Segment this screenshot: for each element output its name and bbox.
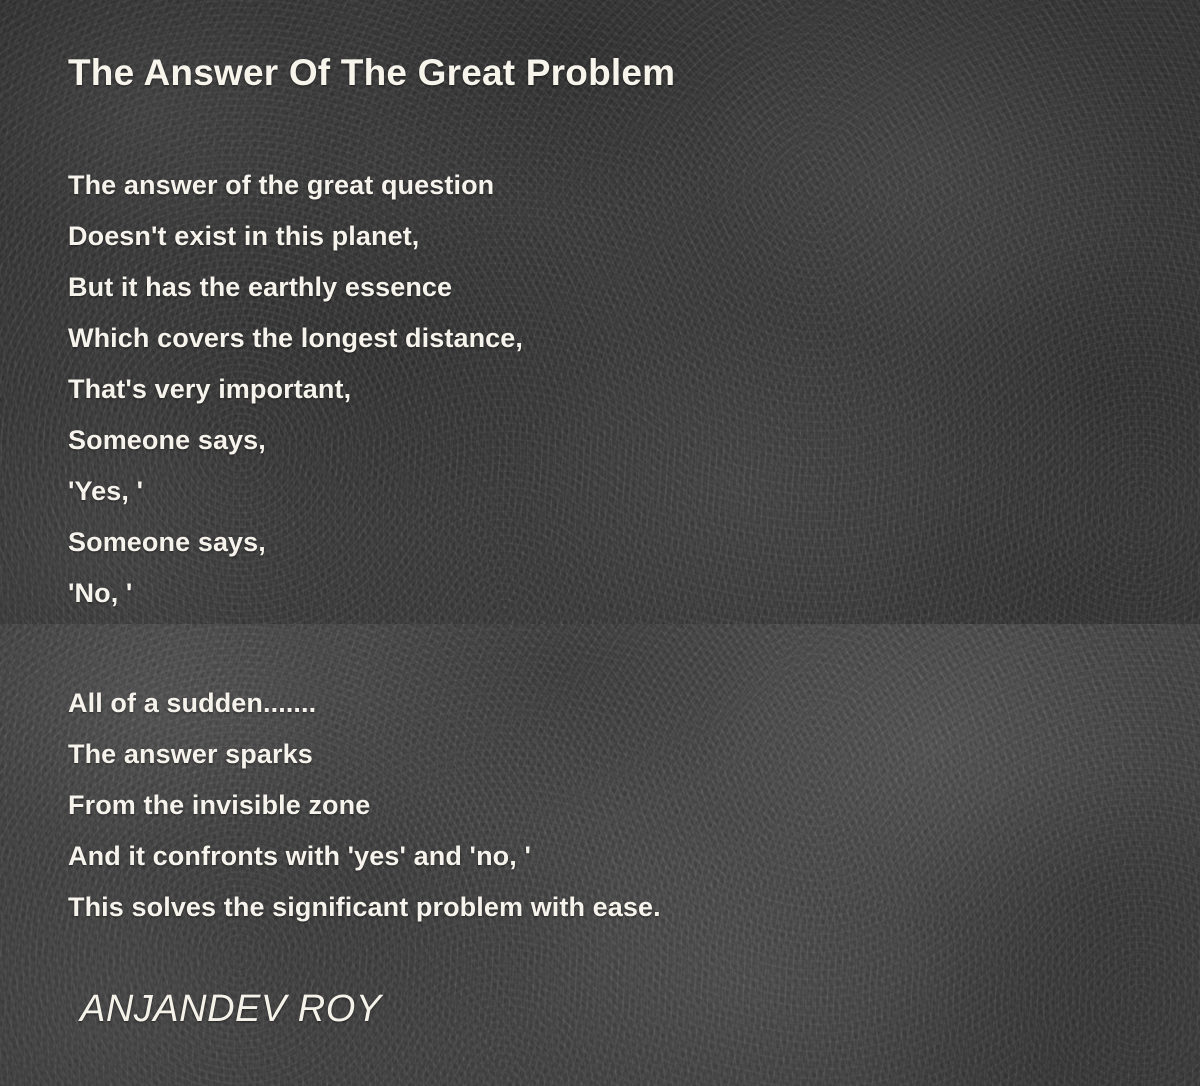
stanza-two: All of a sudden....... The answer sparks… [68,678,661,933]
poem-line: 'No, ' [68,568,523,619]
poem-title: The Answer Of The Great Problem [68,50,675,96]
poem-line: This solves the significant problem with… [68,882,661,933]
poem-line: 'Yes, ' [68,466,523,517]
poem-line: Which covers the longest distance, [68,313,523,364]
poem-author: ANJANDEV ROY [80,985,382,1033]
poem-line: From the invisible zone [68,780,661,831]
poem-line: All of a sudden....... [68,678,661,729]
poem-line: Doesn't exist in this planet, [68,211,523,262]
poem-line: That's very important, [68,364,523,415]
poem-content: The Answer Of The Great Problem The answ… [0,0,1200,1086]
poem-line: The answer of the great question [68,160,523,211]
poem-image-card: The Answer Of The Great Problem The answ… [0,0,1200,1086]
poem-line: And it confronts with 'yes' and 'no, ' [68,831,661,882]
poem-line: The answer sparks [68,729,661,780]
poem-line: But it has the earthly essence [68,262,523,313]
poem-line: Someone says, [68,517,523,568]
stanza-one: The answer of the great question Doesn't… [68,160,523,619]
poem-line: Someone says, [68,415,523,466]
